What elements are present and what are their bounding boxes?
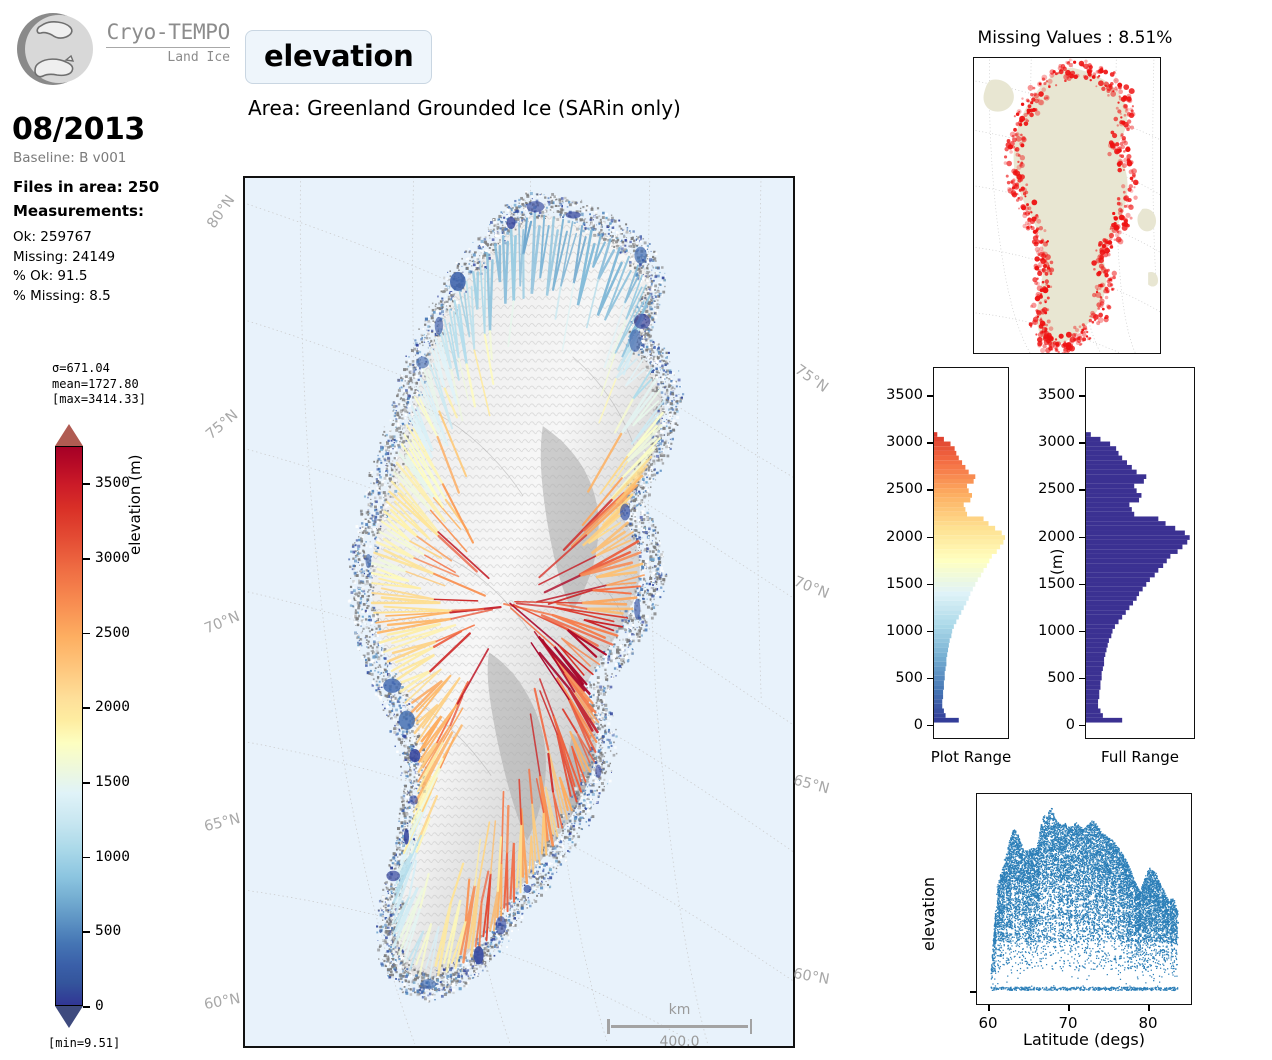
coast-pixel [385,909,387,911]
coast-pixel [613,646,615,648]
coast-pixel [627,227,629,229]
coast-pixel [404,820,406,822]
coast-pixel [652,460,655,463]
variable-badge[interactable]: elevation [245,30,432,84]
coast-pixel [645,580,646,581]
coast-pixel [406,704,408,706]
coast-pixel [416,738,417,739]
coast-pixel [591,687,592,688]
coast-pixel [399,908,401,910]
coast-pixel [375,618,377,620]
coast-pixel [560,814,562,816]
coast-pixel [403,812,406,815]
coast-pixel [648,271,650,273]
coast-pixel [650,361,651,362]
coast-pixel [404,986,406,988]
coast-pixel [517,905,518,906]
coast-pixel [654,272,655,273]
coast-pixel [586,222,587,223]
coast-pixel [655,593,657,595]
coast-pixel [476,968,478,970]
coast-pixel [555,860,558,863]
coast-pixel [651,280,654,283]
coast-pixel [536,889,537,890]
coast-pixel [659,596,661,598]
coast-pixel [392,858,394,860]
coast-pixel [367,601,368,602]
coast-pixel [452,988,455,991]
coast-pixel [549,876,552,879]
coast-pixel [356,554,358,556]
coast-pixel [398,979,400,981]
coast-pixel [588,781,589,782]
coast-pixel [641,245,642,246]
coast-pixel [556,218,559,221]
measurements-heading: Measurements: [13,202,144,220]
coast-pixel [378,667,379,668]
coast-pixel [391,958,392,959]
coast-pixel [607,219,609,221]
coast-pixel [638,639,641,642]
coast-pixel [452,983,455,986]
coast-pixel [366,629,367,630]
coast-pixel [365,662,366,663]
coast-pixel [670,421,671,422]
coast-pixel [646,624,648,626]
coast-pixel [566,836,568,838]
coast-pixel [400,808,403,811]
coast-pixel [406,733,408,735]
coast-pixel [491,946,494,949]
coast-pixel [670,430,672,432]
coast-pixel [541,211,544,214]
coast-pixel [648,336,650,338]
coast-pixel [461,970,462,971]
coast-pixel [637,522,638,523]
coast-pixel [394,694,395,695]
coast-pixel [372,614,375,617]
coast-pixel [562,833,563,834]
coast-pixel [604,752,606,754]
coast-pixel [651,543,653,545]
coast-pixel [659,452,661,454]
coast-pixel [563,847,565,849]
coast-pixel [644,582,645,583]
coast-pixel [648,532,649,533]
coast-pixel [578,803,580,805]
coast-pixel [432,972,433,973]
coast-pixel [590,798,592,800]
coast-pixel [593,219,594,220]
coast-pixel [595,671,596,672]
coast-pixel [594,667,596,669]
coast-pixel [400,766,402,768]
coast-pixel [640,235,642,237]
coast-pixel [602,750,604,752]
coast-pixel [478,965,479,966]
coast-pixel [370,568,371,569]
coast-pixel [407,706,408,707]
coast-pixel [601,782,604,785]
coast-pixel [597,782,598,783]
coast-pixel [614,641,616,643]
colorbar-over-arrow [55,424,83,446]
coast-pixel [369,545,372,548]
coast-pixel [614,667,616,669]
coast-pixel [547,878,548,879]
coast-pixel [619,658,620,659]
coast-pixel [657,267,659,269]
coast-pixel [604,237,605,238]
coast-pixel [638,498,640,500]
coast-pixel [675,395,677,397]
coast-pixel [389,667,390,668]
coast-pixel [368,627,370,629]
coast-pixel [519,901,520,902]
coast-pixel [664,378,665,379]
coast-pixel [600,700,603,703]
coast-pixel [603,761,606,764]
coast-pixel [406,968,408,970]
coast-pixel [542,870,544,872]
coast-pixel [369,663,372,666]
coast-pixel [657,349,658,350]
coast-pixel [477,976,478,977]
coast-pixel [406,812,407,813]
coast-pixel [664,363,665,364]
coast-pixel [357,548,359,550]
coast-pixel [358,580,360,582]
coast-pixel [391,974,394,977]
coast-pixel [611,224,613,226]
coast-pixel [655,360,658,363]
coast-pixel [598,716,600,718]
coast-pixel [667,404,669,406]
coast-pixel [384,695,386,697]
coast-pixel [632,533,633,534]
colorbar-tick-label: 3500 [95,475,130,491]
coast-pixel [418,984,419,985]
coast-pixel [434,994,435,995]
coast-pixel [364,593,365,594]
coast-pixel [652,463,653,464]
coast-pixel [658,372,660,374]
coast-pixel [377,529,379,531]
coast-pixel [563,815,565,817]
coast-pixel [604,669,606,671]
coast-pixel [662,578,665,581]
coast-pixel [642,556,643,557]
coast-pixel [373,512,374,513]
coast-pixel [376,925,378,927]
coast-pixel [649,258,652,261]
coast-pixel [374,670,376,672]
coast-pixel [407,709,408,710]
coast-pixel [599,685,602,688]
coast-pixel [626,626,629,629]
coast-pixel [443,968,445,970]
coast-pixel [469,978,470,979]
coast-pixel [652,567,653,568]
coast-pixel [410,737,412,739]
coast-pixel [550,206,552,208]
coast-pixel [409,739,410,740]
coast-pixel [596,224,597,225]
coast-pixel [587,776,589,778]
coast-pixel [397,700,400,703]
colorbar-stats: σ=671.04 mean=1727.80 [max=3414.33] [52,361,146,408]
coast-pixel [643,578,645,580]
coast-pixel [604,786,605,787]
coast-pixel [441,976,444,979]
coast-pixel [648,313,649,314]
coast-pixel [369,572,371,574]
coast-pixel [364,623,366,625]
coast-pixel [395,970,397,972]
coast-pixel [363,603,366,606]
coast-pixel [399,967,401,969]
coast-pixel [511,930,513,932]
coast-pixel [424,997,427,1000]
coast-pixel [662,352,664,354]
coast-pixel [399,849,401,851]
coast-pixel [584,221,586,223]
coast-pixel [580,201,582,203]
coast-pixel [661,282,662,283]
coast-pixel [670,443,672,445]
coast-pixel [635,593,636,594]
coast-pixel [499,946,501,948]
coast-pixel [607,764,610,767]
coast-pixel [393,719,395,721]
coast-pixel [648,263,650,265]
coast-pixel [667,400,670,403]
coast-pixel [661,431,663,433]
coast-pixel [394,967,396,969]
coast-pixel [614,746,617,749]
coast-pixel [362,563,364,565]
coast-pixel [652,540,653,541]
coast-pixel [647,260,650,263]
coast-pixel [661,383,662,384]
coast-pixel [636,537,637,538]
coast-pixel [382,681,384,683]
coast-pixel [390,918,391,919]
coast-pixel [548,204,550,206]
coast-pixel [569,835,570,836]
coast-pixel [447,978,448,979]
coast-pixel [382,889,384,891]
coast-pixel [390,731,391,732]
coast-pixel [406,971,407,972]
coast-pixel [607,685,609,687]
coast-pixel [361,620,363,622]
coast-pixel [581,200,582,201]
coast-pixel [516,920,517,921]
coast-pixel [548,862,551,865]
coast-pixel [529,905,531,907]
coast-pixel [652,365,654,367]
coast-pixel [545,874,547,876]
coast-pixel [559,205,560,206]
coast-pixel [587,230,589,232]
coast-pixel [544,210,546,212]
coast-pixel [659,434,662,437]
coast-pixel [394,725,396,727]
coast-pixel [357,595,359,597]
coast-pixel [432,976,434,978]
coast-pixel [369,630,371,632]
coast-pixel [463,985,465,987]
coast-pixel [447,984,449,986]
coast-pixel [395,673,397,675]
coast-pixel [356,622,357,623]
coast-pixel [392,695,394,697]
coast-pixel [387,909,388,910]
coast-pixel [624,644,626,646]
main-map[interactable]: km 400.0 [243,176,795,1048]
coast-pixel [466,969,467,970]
coast-pixel [379,688,380,689]
coast-pixel [387,667,388,668]
coast-pixel [481,969,482,970]
coast-pixel [375,628,377,630]
coast-pixel [675,381,677,383]
coast-pixel [368,658,371,661]
coast-pixel [661,391,663,393]
coast-pixel [408,731,410,733]
coast-pixel [656,346,658,348]
coast-pixel [657,364,658,365]
coast-pixel [572,816,573,817]
coast-pixel [378,645,379,646]
coast-pixel [392,698,394,700]
coast-pixel [666,389,668,391]
coast-pixel [674,399,675,400]
coast-pixel [598,708,600,710]
coast-pixel [547,884,549,886]
coast-pixel [660,294,663,297]
coast-pixel [619,225,621,227]
coast-pixel [415,767,417,769]
coast-pixel [599,712,600,713]
coast-pixel [592,699,593,700]
coast-pixel [603,238,606,241]
coast-pixel [632,649,633,650]
coast-pixel [390,867,393,870]
coast-pixel [665,371,667,373]
coast-pixel [451,980,454,983]
coast-pixel [671,407,673,409]
coast-pixel [568,201,570,203]
coast-pixel [645,531,648,534]
coast-pixel [417,745,419,747]
coast-pixel [375,544,377,546]
coast-pixel [577,204,579,206]
coast-pixel [390,890,392,892]
coast-pixel [659,295,660,296]
coast-pixel [601,664,603,666]
coast-pixel [536,881,538,883]
coast-pixel [574,843,576,845]
coast-pixel [630,238,631,239]
coast-pixel [644,506,645,507]
coast-pixel [639,545,640,546]
coast-pixel [598,786,600,788]
coast-pixel [413,739,416,742]
coast-pixel [672,425,674,427]
coast-pixel [583,814,584,815]
coast-pixel [396,837,398,839]
coast-pixel [362,550,364,552]
colorbar-under-arrow [55,1006,83,1028]
coast-pixel [664,279,666,281]
coast-pixel [654,275,657,278]
coast-pixel [595,694,598,697]
coast-pixel [590,683,591,684]
coast-pixel [646,512,648,514]
coast-pixel [383,675,385,677]
coast-pixel [606,739,608,741]
coast-pixel [380,931,381,932]
coast-pixel [555,842,558,845]
coast-pixel [650,363,651,364]
coast-pixel [644,331,645,332]
coast-pixel [621,247,624,250]
coast-pixel [619,670,620,671]
coast-pixel [556,205,558,207]
coast-pixel [381,672,383,674]
coast-pixel [410,786,413,789]
coast-pixel [630,605,632,607]
colorbar-tick-label: 2500 [95,625,130,641]
coast-pixel [512,924,514,926]
coast-pixel [489,953,491,955]
coast-pixel [532,875,534,877]
coast-pixel [413,783,414,784]
coast-pixel [598,215,600,217]
coast-pixel [506,916,507,917]
coast-pixel [586,207,588,209]
coast-pixel [408,988,409,989]
coast-pixel [391,949,392,950]
coast-pixel [643,329,644,330]
coast-pixel [591,815,594,818]
coast-pixel [643,618,645,620]
coast-pixel [560,216,561,217]
coast-pixel [407,823,408,824]
coast-pixel [391,961,392,962]
coast-pixel [409,985,410,986]
coast-pixel [592,754,594,756]
coast-pixel [598,223,600,225]
date-label: 08/2013 [12,112,145,147]
coast-pixel [656,545,657,546]
coast-pixel [654,537,655,538]
coast-pixel [354,582,356,584]
coast-pixel [648,290,650,292]
coast-pixel [399,754,400,755]
coast-pixel [612,229,615,232]
coast-pixel [574,818,576,820]
coast-pixel [362,616,364,618]
coast-pixel [656,472,658,474]
coast-pixel [620,228,622,230]
coast-pixel [550,219,552,221]
coast-pixel [573,204,575,206]
coast-pixel [623,235,625,237]
coast-pixel [620,246,621,247]
